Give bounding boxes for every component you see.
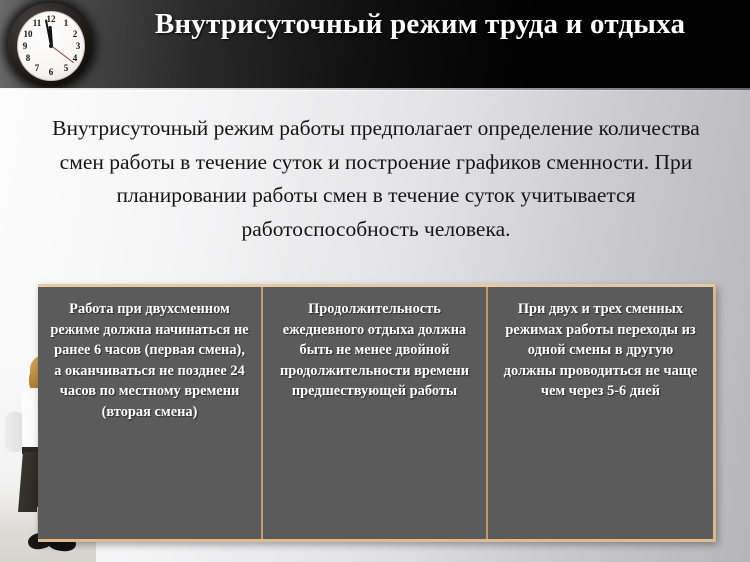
slide-title: Внутрисуточный режим труда и отдыха [110, 4, 730, 45]
clock-center-pin [49, 44, 53, 48]
clock-number-8: 8 [22, 53, 34, 63]
column-text: При двух и трех сменных режимах работы п… [500, 299, 701, 402]
column-text: Продолжительность ежедневного отдыха дол… [275, 299, 474, 402]
clock-number-1: 1 [60, 18, 72, 28]
clock-face: 12 1 2 3 4 5 6 7 8 9 10 11 [17, 11, 85, 81]
slide-root: 12 1 2 3 4 5 6 7 8 9 10 11 Внутрисуточны… [0, 0, 750, 562]
column-daily-rest: Продолжительность ежедневного отдыха дол… [263, 287, 488, 539]
clock-number-9: 9 [19, 41, 31, 51]
three-column-block: Работа при двухсменном режиме должна нач… [38, 284, 716, 542]
column-text: Работа при двухсменном режиме должна нач… [50, 299, 249, 423]
clock-number-3: 3 [72, 41, 84, 51]
slide-header: 12 1 2 3 4 5 6 7 8 9 10 11 Внутрисуточны… [0, 0, 750, 90]
clock-number-10: 10 [22, 29, 34, 39]
clock-number-5: 5 [60, 63, 72, 73]
column-shift-start-end: Работа при двухсменном режиме должна нач… [38, 287, 263, 539]
column-shift-rotation: При двух и трех сменных режимах работы п… [488, 287, 713, 539]
clock-icon: 12 1 2 3 4 5 6 7 8 9 10 11 [8, 3, 92, 87]
header-divider [0, 88, 750, 91]
clock-number-6: 6 [45, 67, 57, 77]
intro-paragraph: Внутрисуточный режим работы предполагает… [40, 112, 712, 246]
clock-number-11: 11 [31, 18, 43, 28]
clock-number-2: 2 [69, 29, 81, 39]
clock-number-7: 7 [31, 63, 43, 73]
